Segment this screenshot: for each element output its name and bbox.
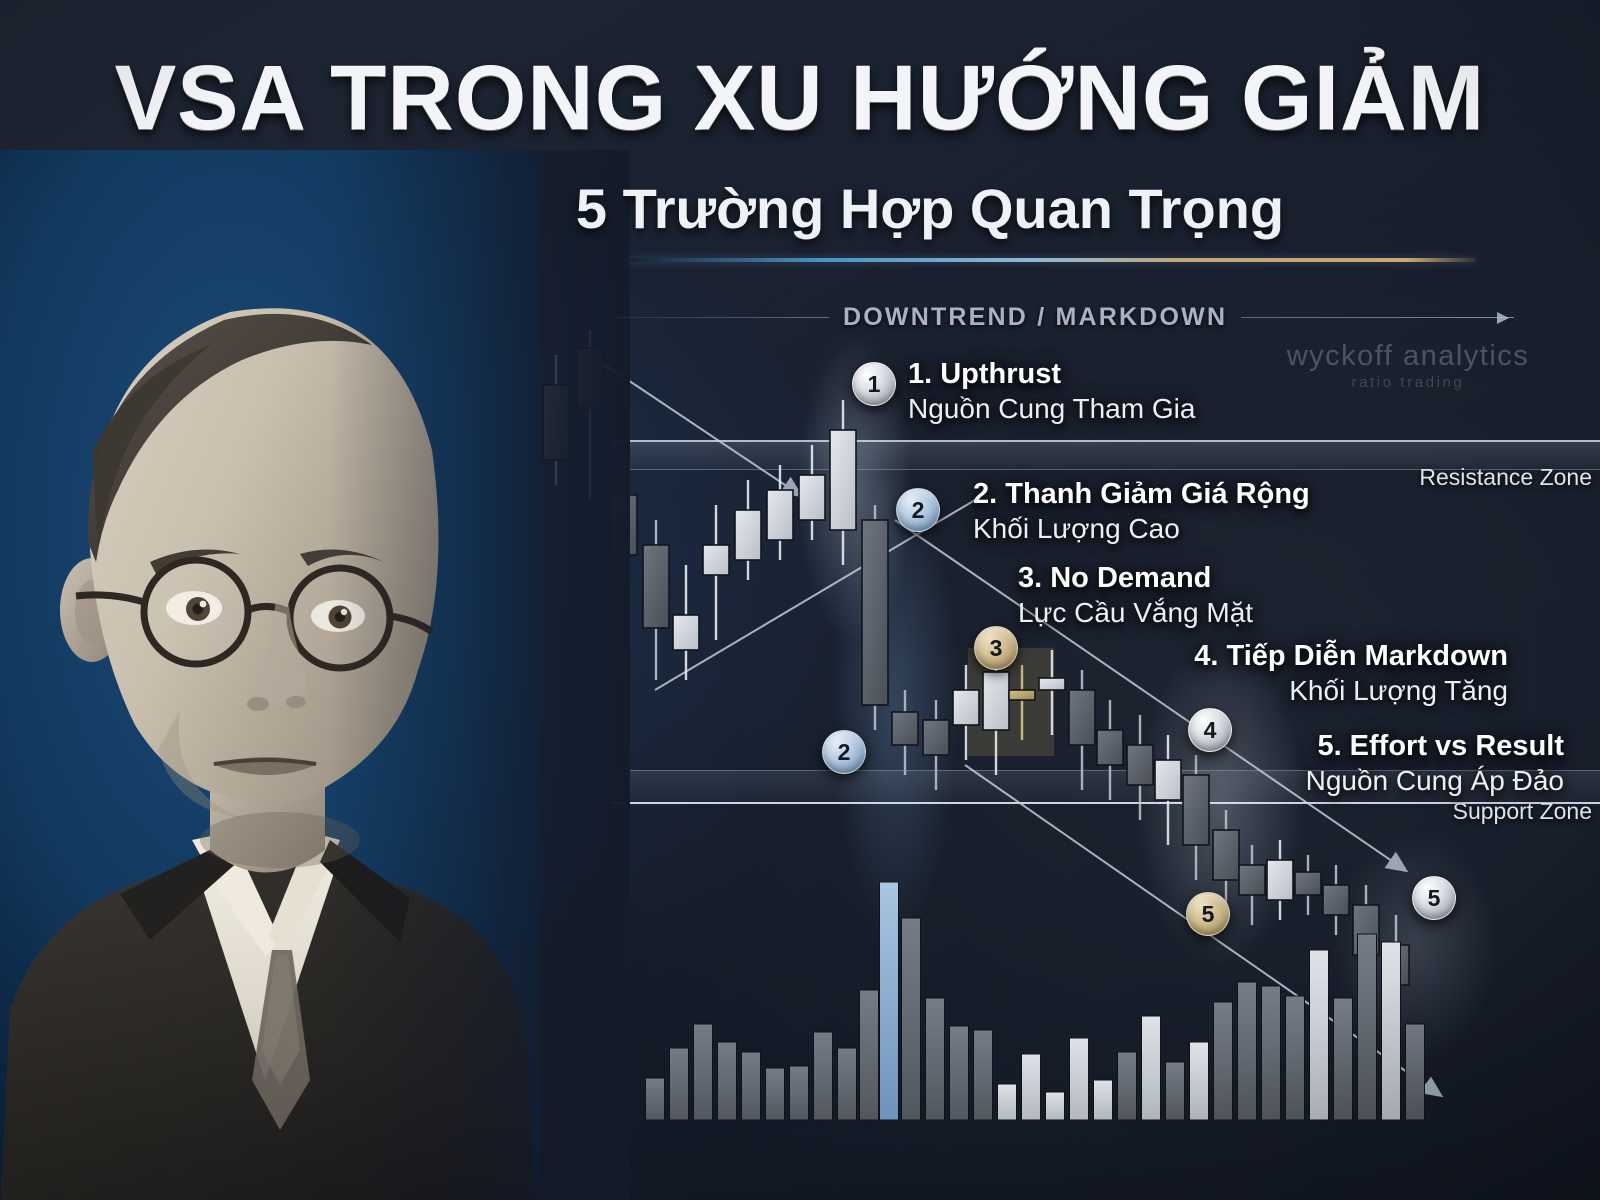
annotation-1-title: 1. Upthrust [908,358,1195,391]
downtrend-header: DOWNTREND / MARKDOWN [614,300,1514,334]
marker-2-bottom[interactable]: 2 [822,730,866,774]
watermark: wyckoff analytics ratio trading [1258,340,1558,391]
resistance-zone-label: Resistance Zone [1419,464,1592,491]
marker-4[interactable]: 4 [1188,708,1232,752]
annotation-5: 5. Effort vs Result Nguồn Cung Áp Đảo [1306,730,1564,797]
marker-5-left[interactable]: 5 [1186,892,1230,936]
annotation-2-title: 2. Thanh Giảm Giá Rộng [973,478,1310,511]
annotation-3-subtitle: Lực Cầu Vắng Mặt [1018,597,1253,629]
annotation-2: 2. Thanh Giảm Giá Rộng Khối Lượng Cao [973,478,1310,545]
marker-1[interactable]: 1 [852,362,896,406]
marker-5-right[interactable]: 5 [1412,876,1456,920]
title-divider [630,258,1475,262]
annotation-4-subtitle: Khối Lượng Tăng [1194,675,1508,707]
annotation-5-subtitle: Nguồn Cung Áp Đảo [1306,765,1564,797]
watermark-line-1: wyckoff analytics [1258,340,1558,373]
page-subtitle: 5 Trường Hợp Quan Trọng [0,176,1600,241]
annotation-3-title: 3. No Demand [1018,562,1253,595]
infographic-canvas: VSA TRONG XU HƯỚNG GIẢM 5 Trường Hợp Qua… [0,0,1600,1200]
annotation-5-title: 5. Effort vs Result [1306,730,1564,763]
header-rule-left [614,317,829,318]
annotation-4: 4. Tiếp Diễn Markdown Khối Lượng Tăng [1194,640,1508,707]
resistance-zone: Resistance Zone [612,440,1600,470]
page-subtitle-text: 5 Trường Hợp Quan Trọng [316,176,1284,241]
annotation-2-subtitle: Khối Lượng Cao [973,513,1310,545]
marker-2-top[interactable]: 2 [896,488,940,532]
annotation-4-title: 4. Tiếp Diễn Markdown [1194,640,1508,673]
arrow-right-icon [1241,317,1514,318]
glow-effort [1330,830,1500,1060]
watermark-line-2: ratio trading [1258,374,1558,391]
annotation-1: 1. Upthrust Nguồn Cung Tham Gia [908,358,1195,425]
marker-3[interactable]: 3 [974,626,1018,670]
glow-wide-bar [830,470,960,940]
annotation-3: 3. No Demand Lực Cầu Vắng Mặt [1018,562,1253,629]
support-zone-label: Support Zone [1453,798,1592,825]
wyckoff-portrait [0,150,540,1200]
page-title: VSA TRONG XU HƯỚNG GIẢM [0,52,1600,146]
downtrend-label: DOWNTREND / MARKDOWN [843,303,1227,332]
annotation-1-subtitle: Nguồn Cung Tham Gia [908,393,1195,425]
